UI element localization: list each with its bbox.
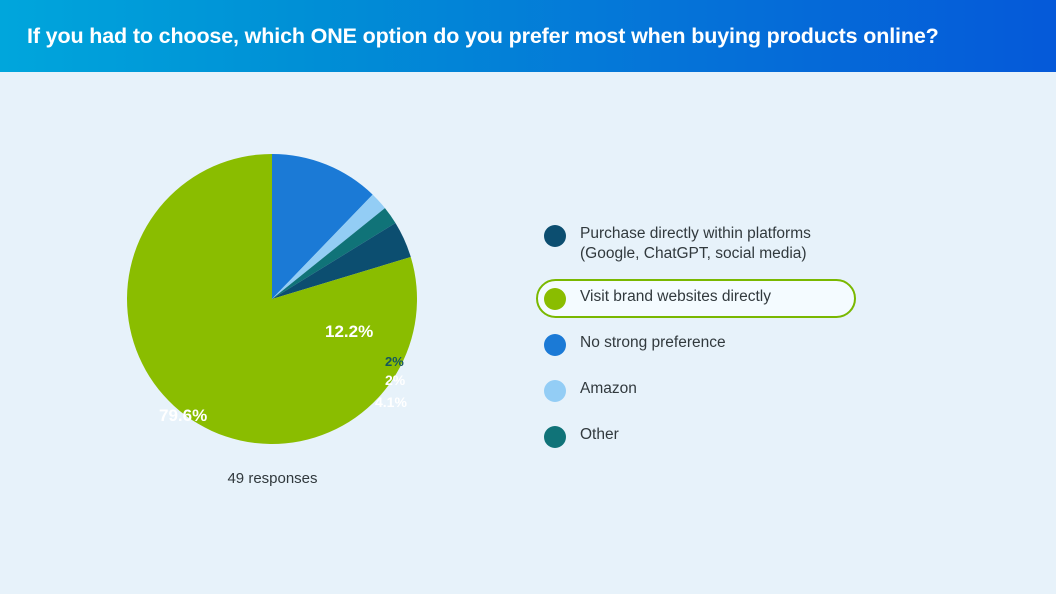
pie-chart-svg <box>127 154 417 444</box>
legend-swatch-icon <box>544 426 566 448</box>
legend-item-label: Visit brand websites directly <box>580 287 771 307</box>
legend-swatch-icon <box>544 334 566 356</box>
pie-chart: 12.2%2%2%4.1%79.6% <box>127 154 417 444</box>
legend-swatch-icon <box>544 380 566 402</box>
legend-item-label: Other <box>580 425 619 445</box>
chart-legend: Purchase directly within platforms (Goog… <box>536 216 856 463</box>
pie-slices <box>127 154 417 444</box>
slide-root: If you had to choose, which ONE option d… <box>0 0 1056 594</box>
legend-item-3[interactable]: Amazon <box>536 371 856 410</box>
legend-item-label: No strong preference <box>580 333 726 353</box>
chart-area: 12.2%2%2%4.1%79.6% 49 responses Purchase… <box>0 72 1056 594</box>
page-title: If you had to choose, which ONE option d… <box>0 24 939 49</box>
legend-item-label: Amazon <box>580 379 637 399</box>
legend-swatch-icon <box>544 288 566 310</box>
legend-item-label: Purchase directly within platforms (Goog… <box>580 224 811 264</box>
slide-header: If you had to choose, which ONE option d… <box>0 0 1056 72</box>
legend-item-2[interactable]: No strong preference <box>536 325 856 364</box>
responses-count: 49 responses <box>0 470 545 487</box>
legend-item-0[interactable]: Purchase directly within platforms (Goog… <box>536 216 856 272</box>
legend-swatch-icon <box>544 225 566 247</box>
legend-item-1[interactable]: Visit brand websites directly <box>536 279 856 318</box>
legend-item-4[interactable]: Other <box>536 417 856 456</box>
